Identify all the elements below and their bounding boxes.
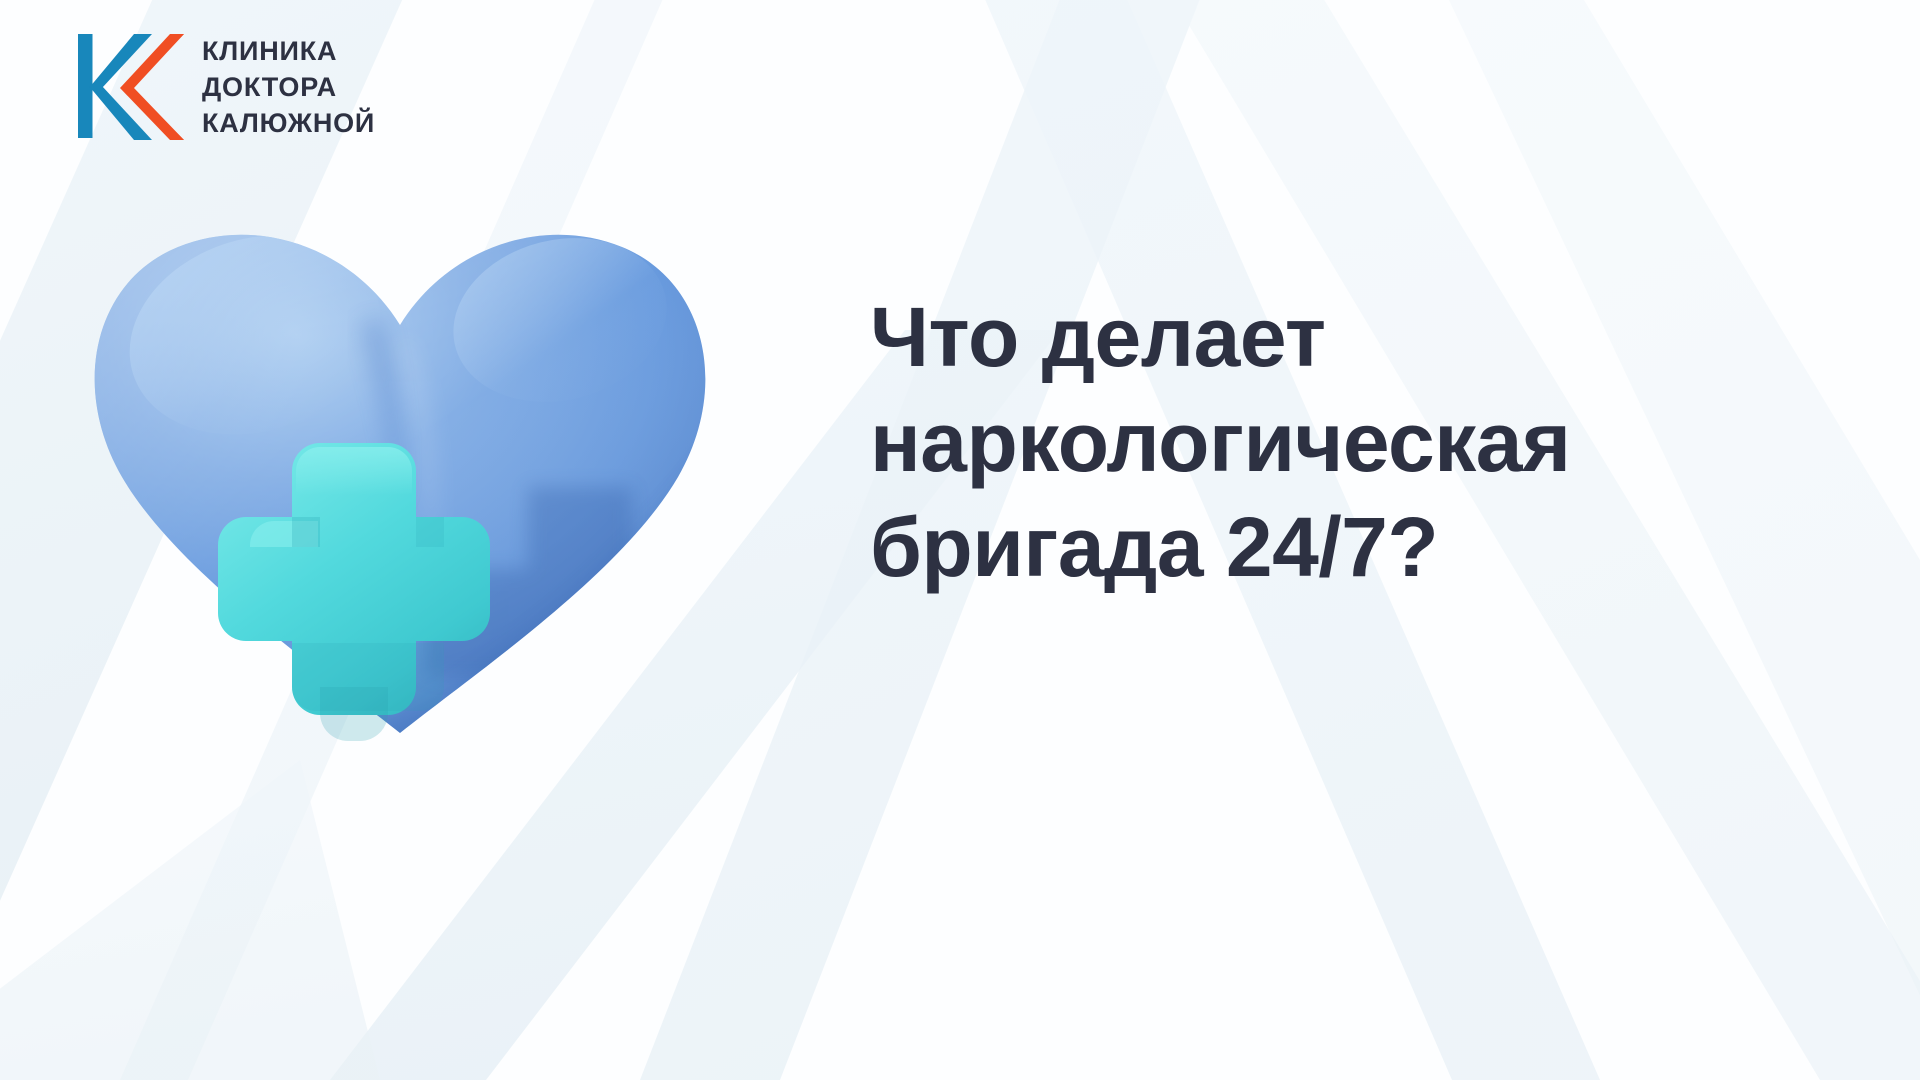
logo-wordmark-line-2: ДОКТОРА <box>202 70 375 104</box>
headline-line-1: Что делает <box>870 285 1870 390</box>
heart-with-medical-cross-illustration <box>60 185 740 765</box>
promo-banner: КЛИНИКА ДОКТОРА КАЛЮЖНОЙ <box>0 0 1920 1080</box>
clinic-logo[interactable]: КЛИНИКА ДОКТОРА КАЛЮЖНОЙ <box>78 30 375 142</box>
kk-chevron-logo-mark-icon <box>78 30 184 142</box>
headline: Что делает наркологическая бригада 24/7? <box>870 285 1870 600</box>
logo-wordmark-line-3: КАЛЮЖНОЙ <box>202 106 375 140</box>
logo-wordmark-line-1: КЛИНИКА <box>202 34 375 68</box>
headline-line-2: наркологическая <box>870 390 1870 495</box>
logo-wordmark: КЛИНИКА ДОКТОРА КАЛЮЖНОЙ <box>202 32 375 140</box>
headline-line-3: бригада 24/7? <box>870 495 1870 600</box>
